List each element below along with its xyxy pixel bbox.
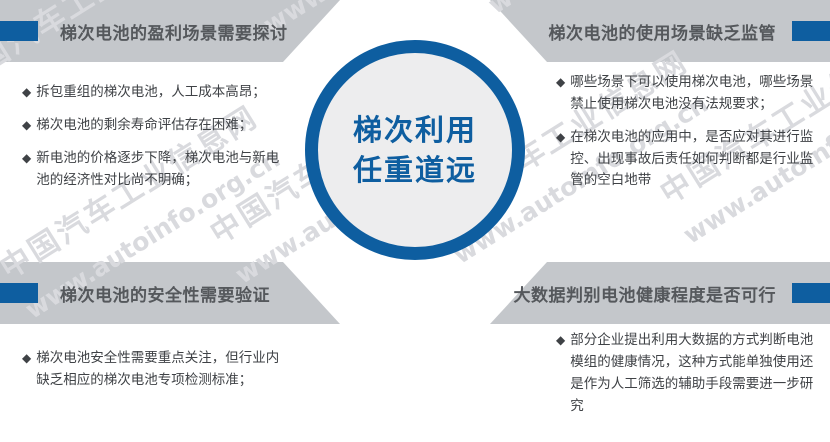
list-item-text: 新电池的价格逐步下降，梯次电池与新电池的经济性对比尚不明确； (36, 148, 290, 192)
header-title-top-right: 梯次电池的使用场景缺乏监管 (549, 19, 777, 44)
list-item-text: 在梯次电池的应用中，是否应对其进行监控、出现事故后责任如何判断都是行业监管的空白… (570, 127, 824, 193)
center-circle: 梯次利用 任重道远 (305, 40, 525, 260)
header-title-bottom-right: 大数据判别电池健康程度是否可行 (514, 281, 777, 306)
list-item: ◆ 梯次电池的剩余寿命评估存在困难； (22, 115, 290, 137)
bullet-list-top-left: ◆ 拆包重组的梯次电池，人工成本高昂； ◆ 梯次电池的剩余寿命评估存在困难； ◆… (22, 82, 290, 191)
list-item-text: 部分企业提出利用大数据的方式判断电池模组的健康情况，这种方式能单独使用还是作为人… (570, 330, 824, 417)
diamond-bullet-icon: ◆ (556, 72, 565, 93)
center-title-line-2: 任重道远 (353, 150, 477, 190)
list-item-text: 哪些场景下可以使用梯次电池，哪些场景禁止使用梯次电池没有法规要求； (570, 72, 824, 116)
infographic-slide: 中国汽车工业信息网 www.autoinfo.org.cn 中国汽车工业信息网 … (0, 0, 830, 442)
list-item-text: 梯次电池的剩余寿命评估存在困难； (36, 115, 290, 137)
diamond-bullet-icon: ◆ (22, 148, 31, 169)
accent-square-icon (792, 21, 830, 41)
center-title-line-1: 梯次利用 (353, 110, 477, 150)
bullet-list-bottom-right: ◆ 部分企业提出利用大数据的方式判断电池模组的健康情况，这种方式能单独使用还是作… (556, 330, 824, 417)
header-bottom-right: 大数据判别电池健康程度是否可行 (514, 262, 830, 324)
accent-square-icon (792, 283, 830, 303)
header-top-right: 梯次电池的使用场景缺乏监管 (549, 0, 830, 62)
list-item: ◆ 哪些场景下可以使用梯次电池，哪些场景禁止使用梯次电池没有法规要求； (556, 72, 824, 116)
bullet-list-top-right: ◆ 哪些场景下可以使用梯次电池，哪些场景禁止使用梯次电池没有法规要求； ◆ 在梯… (556, 72, 824, 192)
header-bottom-left: 梯次电池的安全性需要验证 (0, 262, 270, 324)
diamond-bullet-icon: ◆ (556, 330, 565, 351)
list-item: ◆ 新电池的价格逐步下降，梯次电池与新电池的经济性对比尚不明确； (22, 148, 290, 192)
diamond-bullet-icon: ◆ (556, 127, 565, 148)
header-top-left: 梯次电池的盈利场景需要探讨 (0, 0, 288, 62)
list-item-text: 拆包重组的梯次电池，人工成本高昂； (36, 82, 290, 104)
list-item: ◆ 在梯次电池的应用中，是否应对其进行监控、出现事故后责任如何判断都是行业监管的… (556, 127, 824, 193)
diamond-bullet-icon: ◆ (22, 82, 31, 103)
list-item: ◆ 梯次电池安全性需要重点关注，但行业内缺乏相应的梯次电池专项检测标准； (22, 348, 290, 392)
diamond-bullet-icon: ◆ (22, 348, 31, 369)
diamond-bullet-icon: ◆ (22, 115, 31, 136)
accent-square-icon (0, 283, 38, 303)
accent-square-icon (0, 21, 38, 41)
list-item: ◆ 拆包重组的梯次电池，人工成本高昂； (22, 82, 290, 104)
header-title-bottom-left: 梯次电池的安全性需要验证 (60, 281, 270, 306)
list-item: ◆ 部分企业提出利用大数据的方式判断电池模组的健康情况，这种方式能单独使用还是作… (556, 330, 824, 417)
bullet-list-bottom-left: ◆ 梯次电池安全性需要重点关注，但行业内缺乏相应的梯次电池专项检测标准； (22, 348, 290, 392)
header-title-top-left: 梯次电池的盈利场景需要探讨 (60, 19, 288, 44)
list-item-text: 梯次电池安全性需要重点关注，但行业内缺乏相应的梯次电池专项检测标准； (36, 348, 290, 392)
